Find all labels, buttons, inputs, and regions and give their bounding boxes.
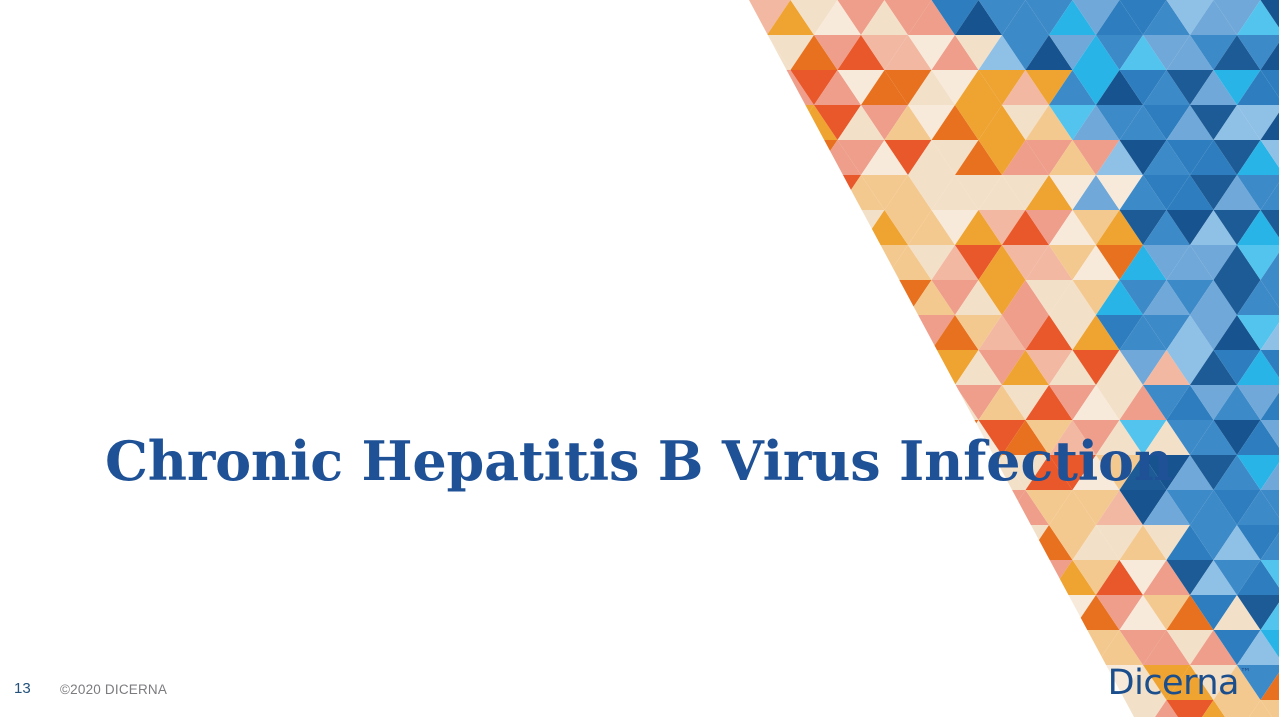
mosaic-triangle — [626, 630, 673, 665]
mosaic-triangle — [1002, 315, 1049, 350]
mosaic-triangle — [1190, 70, 1237, 105]
mosaic-triangle — [1120, 175, 1167, 210]
mosaic-triangle — [579, 525, 626, 560]
mosaic-triangle — [1002, 0, 1049, 35]
mosaic-triangle — [908, 630, 955, 665]
mosaic-triangle — [1237, 525, 1279, 560]
mosaic-triangle — [1049, 385, 1096, 420]
mosaic-triangle — [814, 630, 861, 665]
mosaic-triangle — [1190, 490, 1237, 525]
mosaic-triangle — [1167, 0, 1214, 35]
mosaic-triangle — [1049, 245, 1096, 280]
mosaic-triangle — [955, 595, 1002, 630]
mosaic-triangle — [626, 525, 673, 560]
mosaic-triangle — [838, 70, 885, 105]
mosaic-triangle — [955, 280, 1002, 315]
mosaic-triangle — [932, 595, 979, 630]
mosaic-triangle — [838, 210, 885, 245]
mosaic-triangle — [697, 560, 744, 595]
mosaic-triangle — [885, 70, 932, 105]
mosaic-triangle — [1073, 105, 1120, 140]
mosaic-triangle — [579, 245, 626, 280]
mosaic-triangle — [603, 630, 650, 665]
mosaic-triangle — [1261, 385, 1279, 420]
mosaic-triangle — [1237, 210, 1279, 245]
mosaic-triangle — [1261, 245, 1279, 280]
mosaic-triangle — [908, 0, 955, 35]
mosaic-triangle — [1049, 490, 1096, 525]
mosaic-triangle — [1026, 70, 1073, 105]
mosaic-triangle — [861, 35, 908, 70]
mosaic-triangle — [861, 245, 908, 280]
mosaic-triangle — [720, 245, 767, 280]
mosaic-triangle — [791, 210, 838, 245]
slide-title: Chronic Hepatitis B Virus Infection — [105, 421, 1005, 501]
mosaic-triangle — [767, 210, 814, 245]
mosaic-triangle — [1190, 385, 1237, 420]
mosaic-triangle — [1026, 0, 1073, 35]
mosaic-triangle — [838, 350, 885, 385]
mosaic-triangle — [579, 315, 603, 350]
mosaic-triangle — [885, 105, 932, 140]
mosaic-triangle — [908, 525, 955, 560]
mosaic-triangle — [1049, 105, 1096, 140]
mosaic-triangle — [720, 315, 767, 350]
mosaic-triangle — [1261, 35, 1279, 70]
mosaic-triangle — [885, 35, 932, 70]
mosaic-triangle — [979, 280, 1026, 315]
page-number: 13 — [14, 680, 31, 697]
mosaic-triangle — [1002, 210, 1049, 245]
mosaic-triangle — [838, 595, 885, 630]
mosaic-triangle — [767, 70, 814, 105]
mosaic-triangle — [1237, 175, 1279, 210]
mosaic-triangle — [720, 140, 767, 175]
mosaic-triangle — [885, 630, 932, 665]
mosaic-triangle — [579, 280, 626, 315]
mosaic-triangle — [1073, 210, 1120, 245]
mosaic-triangle — [650, 525, 697, 560]
mosaic-triangle — [838, 245, 885, 280]
mosaic-triangle — [1120, 595, 1167, 630]
mosaic-triangle — [791, 350, 838, 385]
mosaic-triangle — [720, 175, 767, 210]
mosaic-triangle — [1049, 0, 1096, 35]
mosaic-triangle — [1049, 595, 1096, 630]
mosaic-triangle — [1214, 385, 1261, 420]
mosaic-triangle — [861, 210, 908, 245]
mosaic-triangle — [1026, 350, 1073, 385]
mosaic-triangle — [579, 175, 603, 210]
mosaic-triangle — [1143, 175, 1190, 210]
mosaic-triangle — [579, 70, 603, 105]
mosaic-triangle — [908, 385, 955, 420]
mosaic-triangle — [603, 70, 650, 105]
mosaic-triangle — [979, 105, 1026, 140]
mosaic-triangle — [955, 35, 1002, 70]
mosaic-triangle — [697, 105, 744, 140]
mosaic-triangle — [579, 210, 626, 245]
mosaic-triangle — [1073, 280, 1120, 315]
mosaic-triangle — [673, 0, 720, 35]
mosaic-triangle — [885, 210, 932, 245]
mosaic-triangle — [1026, 630, 1073, 665]
mosaic-triangle — [1237, 350, 1279, 385]
mosaic-triangle — [1214, 175, 1261, 210]
mosaic-triangle — [838, 630, 885, 665]
mosaic-triangle — [838, 140, 885, 175]
mosaic-triangle — [603, 315, 650, 350]
mosaic-triangle — [1190, 455, 1237, 490]
mosaic-triangle — [720, 70, 767, 105]
mosaic-triangle — [744, 595, 791, 630]
mosaic-triangle — [979, 70, 1026, 105]
mosaic-triangle — [1120, 350, 1167, 385]
mosaic-triangle — [955, 385, 1002, 420]
mosaic-triangle — [908, 140, 955, 175]
mosaic-triangle — [861, 105, 908, 140]
mosaic-triangle — [791, 105, 838, 140]
mosaic-triangle — [1214, 630, 1261, 665]
mosaic-triangle — [791, 0, 838, 35]
mosaic-triangle — [1049, 630, 1096, 665]
mosaic-triangle — [1167, 595, 1214, 630]
mosaic-triangle — [1237, 0, 1279, 35]
mosaic-triangle — [1261, 70, 1279, 105]
mosaic-triangle — [1143, 560, 1190, 595]
mosaic-triangle — [603, 210, 650, 245]
mosaic-triangle — [908, 35, 955, 70]
mosaic-triangle — [1261, 455, 1279, 490]
mosaic-triangle — [1214, 210, 1261, 245]
mosaic-triangle — [767, 560, 814, 595]
mosaic-triangle — [979, 210, 1026, 245]
mosaic-triangle — [1237, 455, 1279, 490]
mosaic-triangle — [1190, 560, 1237, 595]
mosaic-triangle — [673, 245, 720, 280]
mosaic-triangle — [744, 210, 791, 245]
mosaic-triangle — [1002, 175, 1049, 210]
mosaic-triangle — [1026, 280, 1073, 315]
mosaic-triangle — [1214, 350, 1261, 385]
mosaic-triangle — [1049, 35, 1096, 70]
mosaic-triangle — [1002, 70, 1049, 105]
mosaic-triangle — [1167, 280, 1214, 315]
mosaic-triangle — [626, 560, 673, 595]
mosaic-triangle — [1002, 280, 1049, 315]
mosaic-triangle — [838, 175, 885, 210]
mosaic-triangle — [932, 280, 979, 315]
mosaic-triangle — [1237, 140, 1279, 175]
mosaic-triangle — [885, 385, 932, 420]
mosaic-triangle — [908, 280, 955, 315]
mosaic-triangle — [979, 0, 1026, 35]
mosaic-triangle — [908, 70, 955, 105]
mosaic-triangle — [720, 595, 767, 630]
mosaic-triangle — [579, 140, 603, 175]
mosaic-triangle — [697, 0, 744, 35]
mosaic-triangle — [626, 315, 673, 350]
mosaic-triangle — [650, 280, 697, 315]
mosaic-triangle — [1143, 210, 1190, 245]
mosaic-triangle — [1190, 595, 1237, 630]
mosaic-triangle — [1096, 210, 1143, 245]
mosaic-triangle — [1237, 595, 1279, 630]
mosaic-triangle — [791, 595, 838, 630]
mosaic-triangle — [814, 245, 861, 280]
mosaic-triangle — [1214, 35, 1261, 70]
mosaic-triangle — [814, 280, 861, 315]
triangle-mosaic-decoration — [579, 0, 1279, 717]
mosaic-triangle — [579, 280, 603, 315]
mosaic-triangle — [814, 315, 861, 350]
mosaic-triangle — [626, 210, 673, 245]
mosaic-triangle — [1049, 175, 1096, 210]
mosaic-triangle — [1096, 280, 1143, 315]
mosaic-triangle — [673, 315, 720, 350]
mosaic-triangle — [673, 210, 720, 245]
mosaic-triangle — [1002, 560, 1049, 595]
mosaic-triangle — [1190, 105, 1237, 140]
mosaic-triangle — [814, 210, 861, 245]
mosaic-triangle — [1073, 385, 1120, 420]
mosaic-triangle — [650, 595, 697, 630]
mosaic-triangle — [650, 140, 697, 175]
mosaic-triangle — [720, 630, 767, 665]
mosaic-triangle — [626, 350, 673, 385]
mosaic-triangle — [650, 385, 697, 420]
mosaic-triangle — [603, 560, 650, 595]
mosaic-triangle — [1049, 315, 1096, 350]
mosaic-triangle — [908, 560, 955, 595]
mosaic-triangle — [1120, 245, 1167, 280]
mosaic-triangle — [932, 35, 979, 70]
mosaic-triangle — [1167, 245, 1214, 280]
mosaic-triangle — [838, 560, 885, 595]
mosaic-triangle — [1261, 105, 1279, 140]
logo-wordmark: Dicerna — [1108, 665, 1239, 701]
mosaic-triangle — [1167, 210, 1214, 245]
mosaic-triangle — [720, 525, 767, 560]
mosaic-triangle — [1167, 455, 1214, 490]
mosaic-triangle — [744, 35, 791, 70]
mosaic-triangle — [908, 315, 955, 350]
mosaic-triangle — [673, 175, 720, 210]
mosaic-triangle — [1261, 350, 1279, 385]
mosaic-triangle — [767, 105, 814, 140]
mosaic-triangle — [1073, 560, 1120, 595]
mosaic-triangle — [979, 595, 1026, 630]
mosaic-triangle — [1237, 35, 1279, 70]
mosaic-triangle — [673, 630, 720, 665]
mosaic-triangle — [791, 35, 838, 70]
mosaic-triangle — [1190, 350, 1237, 385]
mosaic-triangle — [579, 315, 626, 350]
mosaic-triangle — [767, 315, 814, 350]
mosaic-triangle — [1261, 595, 1279, 630]
mosaic-triangle — [814, 595, 861, 630]
mosaic-triangle — [1096, 630, 1143, 665]
mosaic-triangle — [1073, 350, 1120, 385]
mosaic-triangle — [1120, 490, 1167, 525]
mosaic-triangle — [720, 105, 767, 140]
mosaic-triangle — [650, 105, 697, 140]
mosaic-triangle — [673, 385, 720, 420]
mosaic-triangle — [1026, 210, 1073, 245]
mosaic-triangle — [1002, 140, 1049, 175]
mosaic-triangle — [955, 560, 1002, 595]
mosaic-triangle — [767, 140, 814, 175]
mosaic-triangle — [1096, 595, 1143, 630]
mosaic-triangle — [1190, 525, 1237, 560]
mosaic-triangle — [1167, 560, 1214, 595]
mosaic-triangle — [1096, 0, 1143, 35]
mosaic-triangle — [979, 525, 1026, 560]
mosaic-triangle — [908, 175, 955, 210]
mosaic-triangle — [1261, 490, 1279, 525]
mosaic-triangle — [955, 105, 1002, 140]
mosaic-triangle — [791, 385, 838, 420]
mosaic-triangle — [955, 210, 1002, 245]
mosaic-triangle — [1237, 560, 1279, 595]
mosaic-triangle — [814, 560, 861, 595]
mosaic-triangle — [579, 175, 626, 210]
mosaic-triangle — [1237, 630, 1279, 665]
mosaic-triangle — [603, 105, 650, 140]
mosaic-triangle — [1167, 420, 1214, 455]
mosaic-triangle — [1049, 140, 1096, 175]
mosaic-triangle — [1002, 595, 1049, 630]
mosaic-triangle — [744, 315, 791, 350]
mosaic-triangle — [1237, 315, 1279, 350]
mosaic-triangle — [1190, 245, 1237, 280]
mosaic-triangle — [1214, 490, 1261, 525]
mosaic-triangle — [1190, 210, 1237, 245]
mosaic-triangle — [1096, 175, 1143, 210]
mosaic-triangle — [838, 105, 885, 140]
mosaic-triangle — [650, 315, 697, 350]
mosaic-triangle — [1073, 315, 1120, 350]
mosaic-triangle — [955, 245, 1002, 280]
mosaic-triangle — [579, 560, 626, 595]
mosaic-triangle — [1237, 420, 1279, 455]
mosaic-triangle — [1190, 175, 1237, 210]
mosaic-triangle — [814, 350, 861, 385]
mosaic-triangle — [861, 0, 908, 35]
mosaic-triangle — [579, 245, 603, 280]
mosaic-triangle — [1049, 70, 1096, 105]
mosaic-triangle — [1167, 490, 1214, 525]
mosaic-triangle — [1026, 525, 1073, 560]
mosaic-triangle — [1261, 525, 1279, 560]
mosaic-triangle — [697, 280, 744, 315]
mosaic-triangle — [838, 525, 885, 560]
mosaic-triangle — [861, 315, 908, 350]
mosaic-triangle — [603, 245, 650, 280]
mosaic-triangle — [1026, 560, 1073, 595]
mosaic-triangle — [861, 140, 908, 175]
mosaic-triangle — [1120, 280, 1167, 315]
mosaic-triangle — [1237, 245, 1279, 280]
mosaic-triangle — [650, 0, 697, 35]
mosaic-triangle — [1096, 350, 1143, 385]
mosaic-triangle — [579, 385, 603, 420]
mosaic-triangle — [697, 350, 744, 385]
mosaic-triangle — [814, 35, 861, 70]
mosaic-triangle — [955, 630, 1002, 665]
mosaic-triangle — [720, 0, 767, 35]
mosaic-triangle — [650, 35, 697, 70]
mosaic-triangle — [673, 140, 720, 175]
mosaic-triangle — [744, 525, 791, 560]
mosaic-triangle — [1096, 245, 1143, 280]
mosaic-triangle — [579, 630, 626, 665]
mosaic-triangle — [1214, 140, 1261, 175]
mosaic-triangle — [791, 630, 838, 665]
mosaic-triangle — [1143, 630, 1190, 665]
mosaic-triangle — [1073, 0, 1120, 35]
mosaic-triangle — [814, 525, 861, 560]
mosaic-triangle — [979, 350, 1026, 385]
mosaic-triangle — [1143, 280, 1190, 315]
mosaic-triangle — [932, 245, 979, 280]
mosaic-triangle — [1214, 420, 1261, 455]
mosaic-triangle — [1120, 385, 1167, 420]
slide-footer: 13 ©2020 DICERNA Dicerna ™ — [0, 669, 1279, 717]
mosaic-triangle — [650, 175, 697, 210]
mosaic-triangle — [979, 315, 1026, 350]
mosaic-triangle — [697, 210, 744, 245]
mosaic-triangle — [603, 595, 650, 630]
mosaic-triangle — [720, 210, 767, 245]
mosaic-triangle — [932, 0, 979, 35]
mosaic-triangle — [603, 0, 650, 35]
mosaic-triangle — [626, 595, 673, 630]
mosaic-triangle — [1073, 595, 1120, 630]
mosaic-triangle — [885, 315, 932, 350]
mosaic-triangle — [885, 595, 932, 630]
mosaic-triangle — [579, 595, 603, 630]
mosaic-triangle — [650, 350, 697, 385]
mosaic-triangle — [720, 280, 767, 315]
mosaic-triangle — [767, 350, 814, 385]
mosaic-triangle — [603, 350, 650, 385]
mosaic-triangle — [579, 350, 626, 385]
mosaic-triangle — [1026, 245, 1073, 280]
mosaic-triangle — [885, 560, 932, 595]
mosaic-triangle — [861, 560, 908, 595]
mosaic-triangle — [1261, 630, 1279, 665]
mosaic-triangle — [1214, 455, 1261, 490]
mosaic-triangle — [1002, 385, 1049, 420]
mosaic-triangle — [744, 280, 791, 315]
mosaic-triangle — [1237, 385, 1279, 420]
mosaic-triangle — [1167, 140, 1214, 175]
mosaic-triangle — [1237, 70, 1279, 105]
mosaic-triangle — [579, 0, 603, 35]
mosaic-triangle — [1049, 350, 1096, 385]
mosaic-triangle — [1261, 420, 1279, 455]
mosaic-triangle — [650, 70, 697, 105]
mosaic-triangle — [861, 175, 908, 210]
mosaic-triangle — [814, 175, 861, 210]
mosaic-triangle — [1049, 560, 1096, 595]
mosaic-triangle — [579, 385, 626, 420]
mosaic-triangle — [885, 245, 932, 280]
mosaic-triangle — [932, 350, 979, 385]
mosaic-triangle — [579, 595, 626, 630]
mosaic-triangle — [1120, 560, 1167, 595]
